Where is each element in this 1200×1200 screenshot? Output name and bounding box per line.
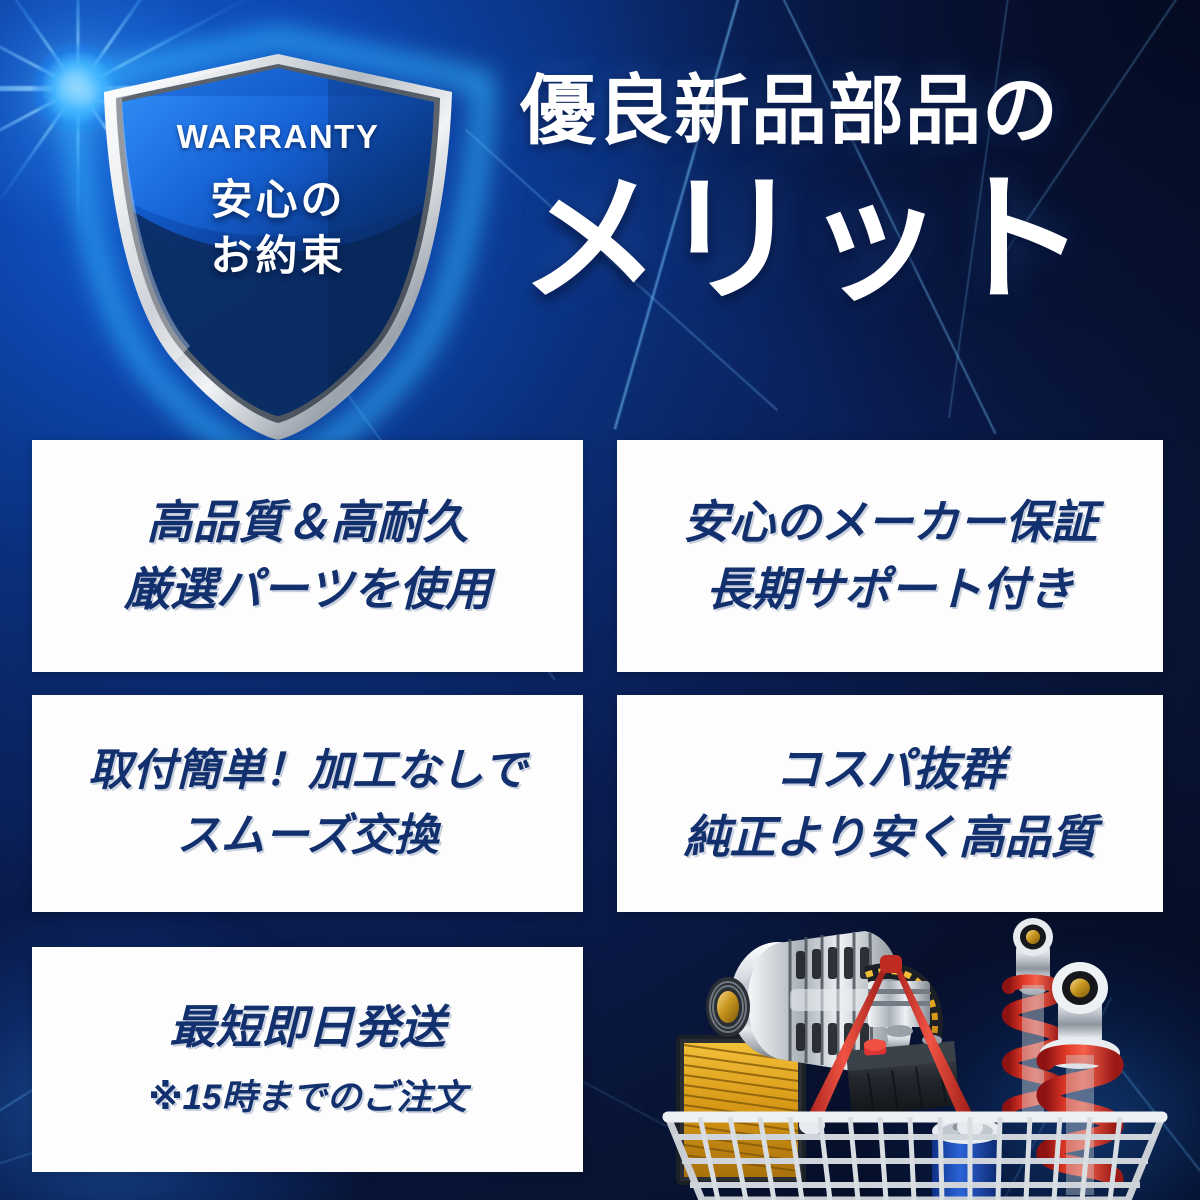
benefit-card-warranty: 安心のメーカー保証 長期サポート付き bbox=[617, 440, 1163, 672]
headline-line-2: メリット bbox=[520, 170, 1180, 310]
benefit-line-2: 厳選パーツを使用 bbox=[124, 562, 491, 617]
promo-banner: WARRANTY 安心の お約束 優良新品部品の メリット 高品質＆高耐久 厳選… bbox=[0, 0, 1200, 1200]
benefit-line-1: コスパ抜群 bbox=[775, 742, 1005, 797]
benefit-card-shipping: 最短即日発送 ※15時までのご注文 bbox=[32, 947, 583, 1172]
headline-line-1: 優良新品部品の bbox=[520, 74, 1180, 150]
coil-spring-shock-absorber-icon bbox=[1009, 918, 1120, 1195]
auto-parts-photo bbox=[660, 855, 1200, 1200]
benefit-card-installation: 取付簡単！加工なしで スムーズ交換 bbox=[32, 695, 583, 912]
benefit-line-1: 最短即日発送 bbox=[170, 1000, 446, 1055]
headline: 優良新品部品の メリット bbox=[520, 74, 1180, 310]
shield-icon bbox=[78, 46, 478, 446]
warranty-shield-badge: WARRANTY 安心の お約束 bbox=[78, 46, 478, 446]
benefit-line-2: 長期サポート付き bbox=[706, 562, 1074, 617]
benefit-line-1: 取付簡単！加工なしで bbox=[88, 745, 527, 798]
benefit-line-2: スムーズ交換 bbox=[177, 810, 439, 863]
benefit-card-quality: 高品質＆高耐久 厳選パーツを使用 bbox=[32, 440, 583, 672]
auto-parts-illustration bbox=[660, 855, 1200, 1200]
benefit-line-1: 安心のメーカー保証 bbox=[683, 495, 1097, 550]
benefit-line-2: ※15時までのご注文 bbox=[149, 1077, 467, 1119]
benefit-line-1: 高品質＆高耐久 bbox=[147, 495, 469, 550]
